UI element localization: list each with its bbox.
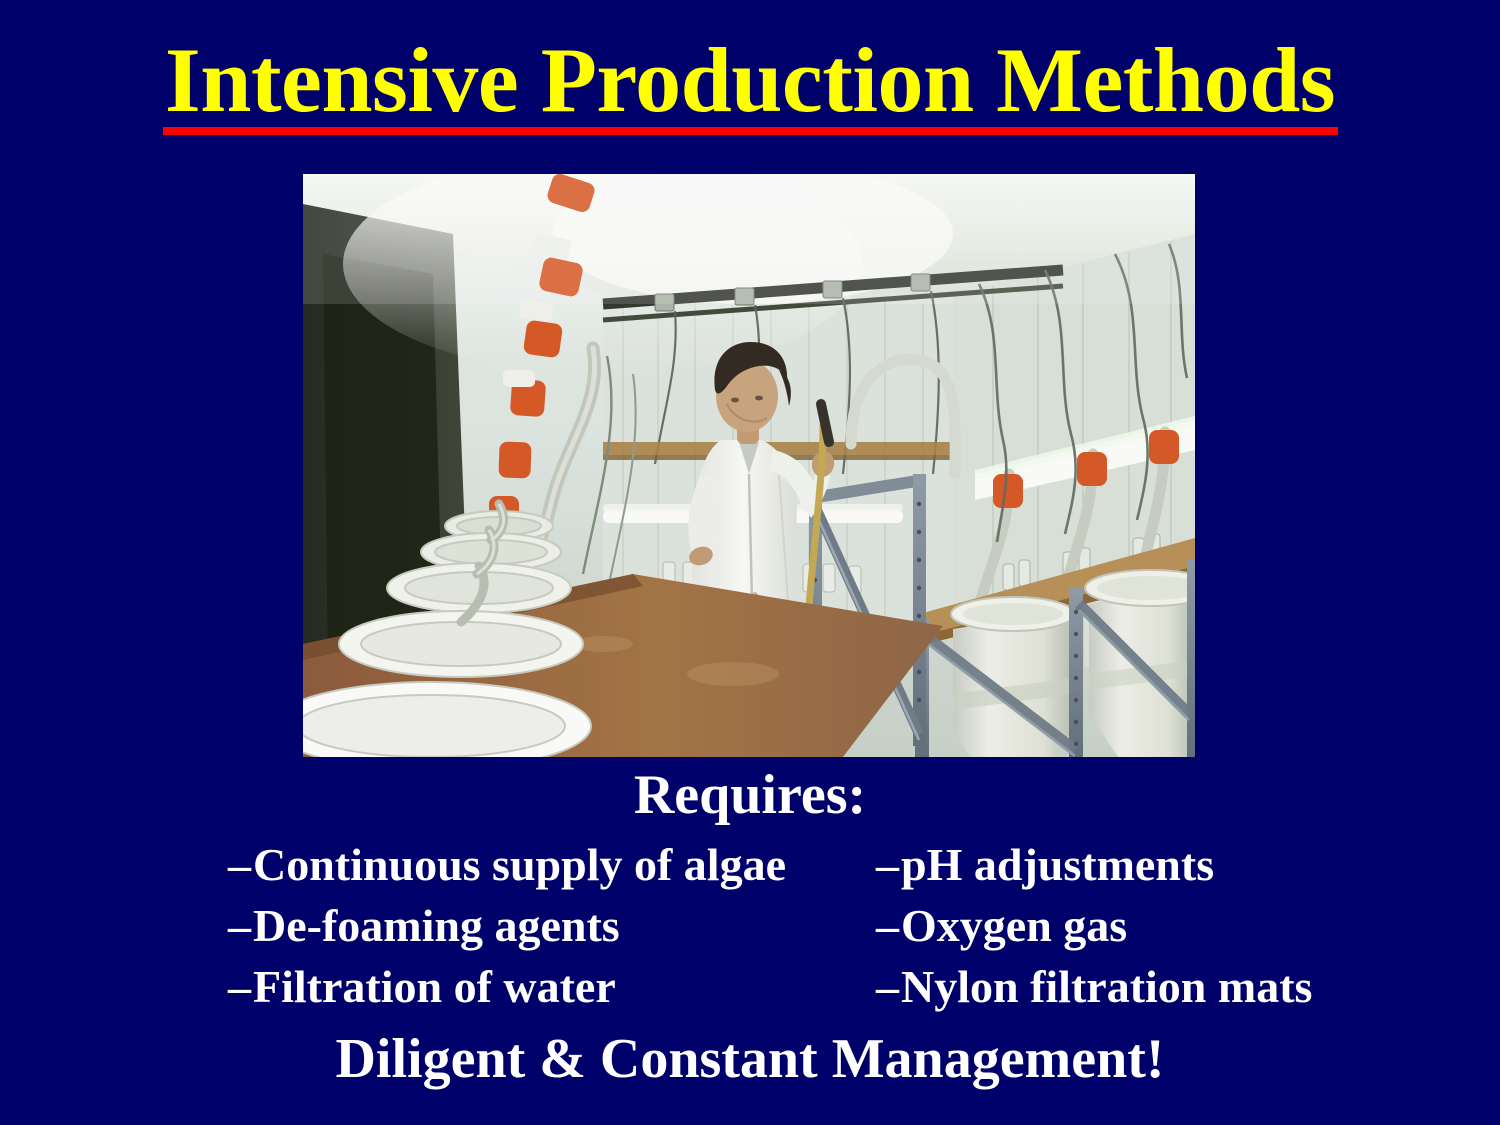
list-item-label: Filtration of water [253, 961, 616, 1012]
bullet-dash-icon: – [228, 956, 251, 1017]
list-item-label: pH adjustments [901, 839, 1214, 890]
page-title: Intensive Production Methods [0, 32, 1500, 128]
requirements-list: –Continuous supply of algae –De-foaming … [0, 834, 1500, 1019]
requires-heading: Requires: [0, 766, 1500, 824]
list-item: –De-foaming agents [228, 895, 786, 956]
list-item-label: De-foaming agents [253, 900, 620, 951]
presentation-slide: Intensive Production Methods [0, 0, 1500, 1125]
requirements-column-right: –pH adjustments –Oxygen gas –Nylon filtr… [876, 834, 1312, 1017]
requirements-column-left: –Continuous supply of algae –De-foaming … [228, 834, 786, 1017]
bullet-dash-icon: – [228, 834, 251, 895]
bullet-dash-icon: – [876, 956, 899, 1017]
list-item: –pH adjustments [876, 834, 1312, 895]
list-item: –Oxygen gas [876, 895, 1312, 956]
bullet-dash-icon: – [228, 895, 251, 956]
list-item: –Filtration of water [228, 956, 786, 1017]
bullet-dash-icon: – [876, 834, 899, 895]
list-item-label: Oxygen gas [901, 900, 1127, 951]
title-block: Intensive Production Methods [0, 32, 1500, 128]
closing-statement: Diligent & Constant Management! [0, 1028, 1500, 1090]
list-item-label: Continuous supply of algae [253, 839, 786, 890]
list-item: –Nylon filtration mats [876, 956, 1312, 1017]
bullet-dash-icon: – [876, 895, 899, 956]
list-item: –Continuous supply of algae [228, 834, 786, 895]
list-item-label: Nylon filtration mats [901, 961, 1312, 1012]
photo-illustration [303, 174, 1195, 757]
title-underline-rule [163, 127, 1338, 135]
production-room-photo [303, 174, 1195, 757]
